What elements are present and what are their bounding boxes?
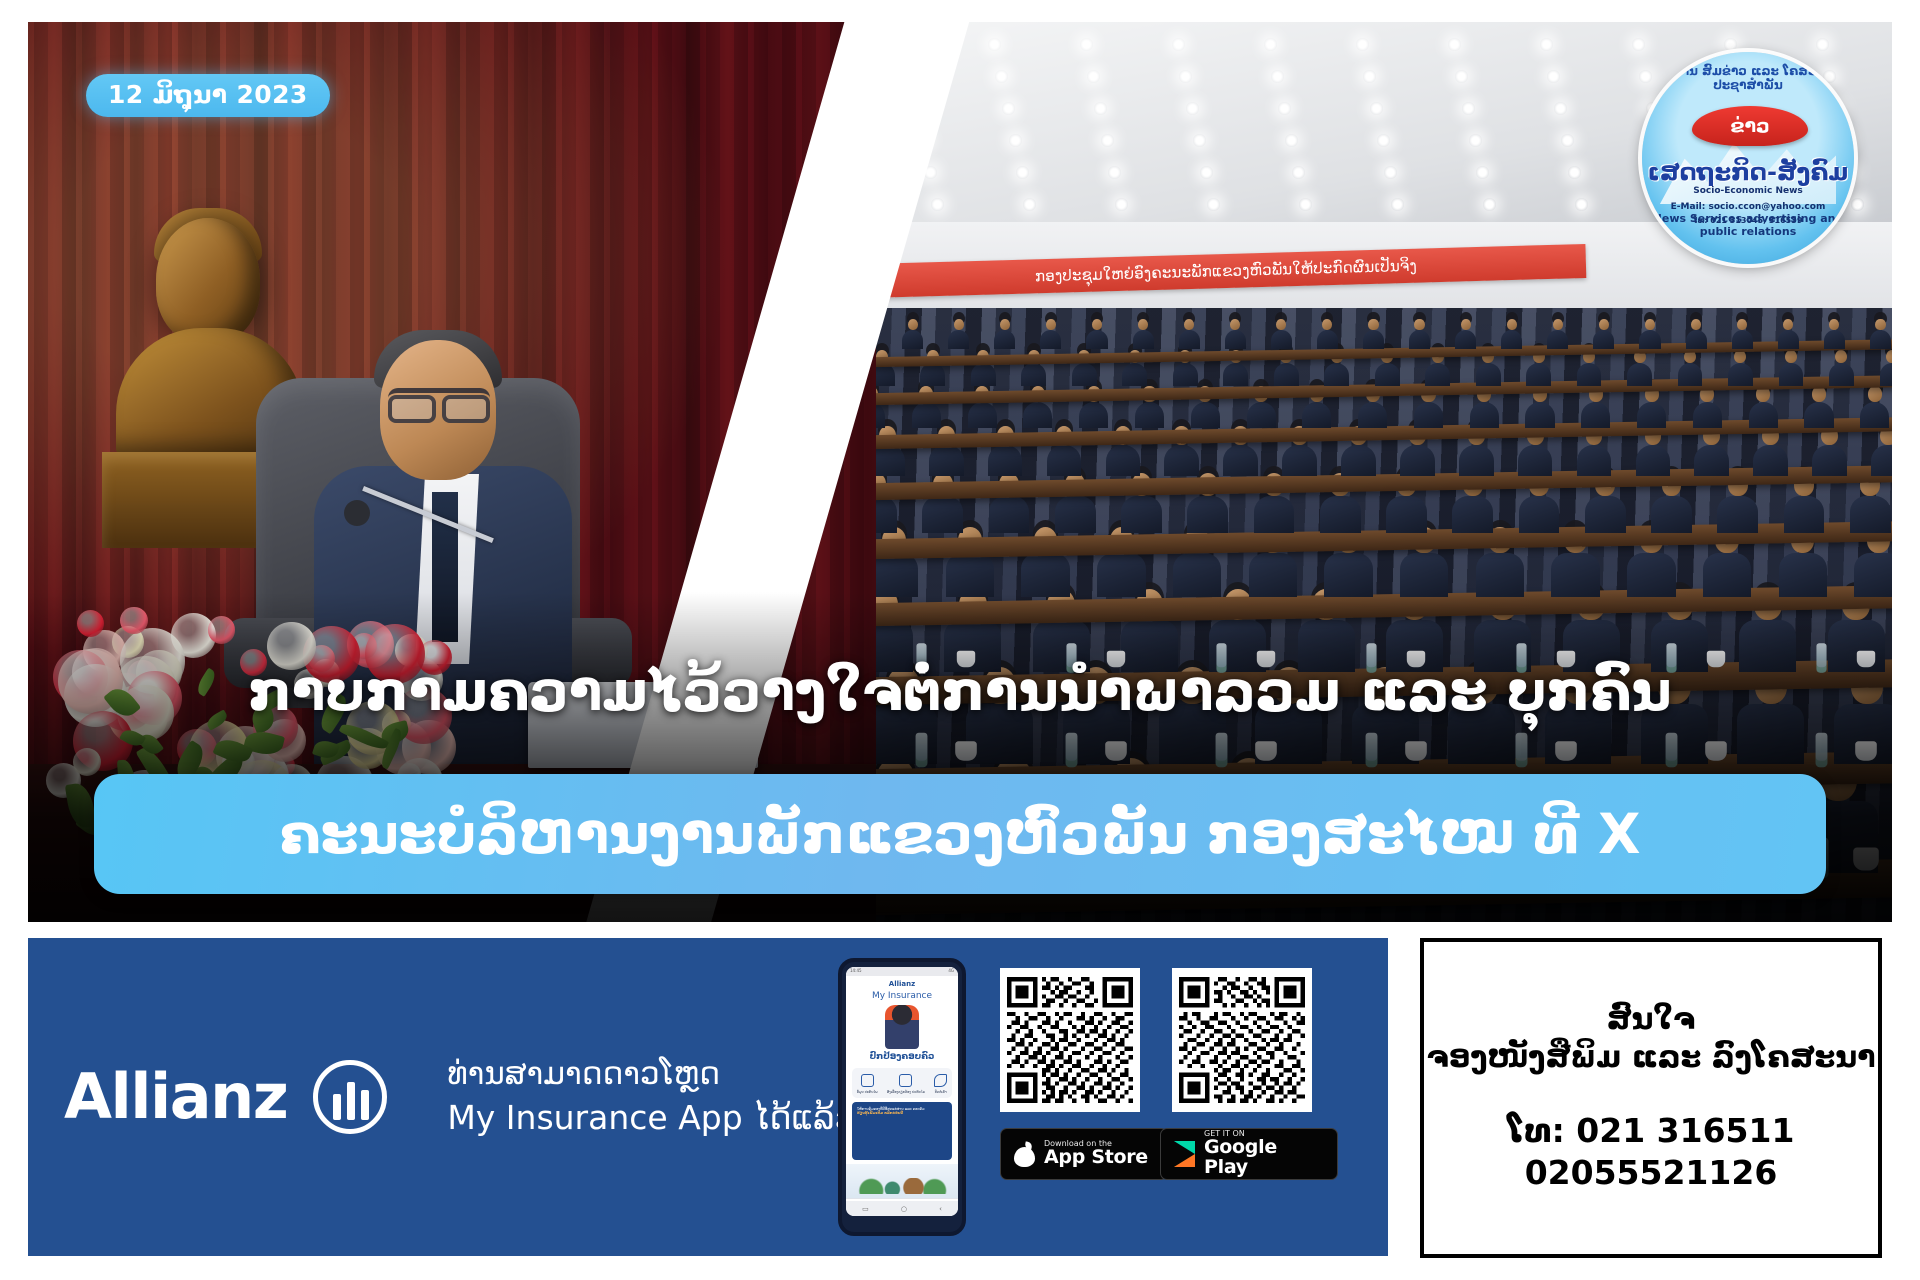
audience-person-torso [1341, 445, 1376, 476]
ceiling-light [1193, 134, 1206, 147]
audience-person-head [1230, 319, 1240, 331]
ceiling-light [1115, 198, 1128, 211]
ceiling-light [1108, 166, 1121, 179]
audience-person-torso [946, 553, 994, 597]
audience-person-torso [1518, 445, 1553, 476]
logo-main-text: ເສດຖະກິດ-ສັງຄົມ [1642, 158, 1854, 186]
audience-person-torso [1317, 330, 1338, 349]
audience-person-torso [1121, 496, 1162, 533]
ceiling-light [1179, 70, 1192, 83]
ceiling-light [1568, 166, 1581, 179]
phone-scene-illustration [846, 1164, 958, 1198]
audience-person-torso [1282, 445, 1317, 476]
ceiling-light [1080, 38, 1093, 51]
audience-person-torso [971, 363, 996, 385]
audience-person-torso [1753, 445, 1788, 476]
ceiling-light [1483, 198, 1496, 211]
audience-person-torso [1627, 553, 1675, 597]
logo-email-text: E-Mail: socio.ccon@yahoo.com [1642, 202, 1854, 212]
audience-person-torso [876, 553, 918, 597]
date-badge: 12 ມິຖຸນາ 2023 [86, 74, 330, 117]
nav-home-icon[interactable]: ○ [901, 1205, 907, 1213]
audience-person-torso [1324, 363, 1349, 385]
audience-person-torso [1386, 496, 1427, 533]
audience-person-torso [1519, 496, 1560, 533]
audience-person-torso [1400, 553, 1448, 597]
audience-person-head [1829, 319, 1839, 331]
google-play-icon [1174, 1141, 1195, 1167]
audience-person-torso [1703, 553, 1751, 597]
phone-system-nav[interactable]: ▭ ○ ‹ [846, 1201, 958, 1216]
microphone-head [344, 500, 370, 526]
audience-person-torso [1778, 330, 1799, 349]
audience-person-torso [1173, 363, 1198, 385]
ceiling-light [1455, 70, 1468, 83]
audience-person-torso [968, 402, 997, 428]
audience-person-torso [1581, 402, 1610, 428]
audience-person-torso [1079, 402, 1108, 428]
audience-person-torso [994, 330, 1015, 349]
audience-person-torso [876, 496, 897, 533]
contact-line2: ຈອງໜັງສືພິມ ແລະ ລົງໂຄສະນາ [1426, 1039, 1875, 1077]
ceiling-light [931, 198, 944, 211]
audience-person-head [1783, 319, 1793, 331]
ceiling-light [1207, 198, 1220, 211]
ceiling-light [988, 38, 1001, 51]
phone-promo-banner[interactable]: ໃຫ້ການຄຸ້ມຄອງທີ່ດີທີ່ສຸດແກ່ທ່ານ ແລະ ຄອບຄ… [852, 1102, 952, 1160]
ceiling-light [1009, 134, 1022, 147]
audience-person-torso [1409, 330, 1430, 349]
audience-person-torso [1072, 363, 1097, 385]
google-play-qr-image [1179, 975, 1305, 1105]
publisher-logo[interactable]: ບໍລິການ ສົມຂ່າວ ແລະ ໂຄສະນາ - ປະຊາສຳພັນ ຂ… [1642, 52, 1854, 264]
ceiling-light [1087, 70, 1100, 83]
audience-person-torso [1191, 402, 1220, 428]
ceiling-light [1264, 38, 1277, 51]
audience-person-torso [1040, 330, 1061, 349]
allianz-brand-block: Allianz ທ່ານສາມາດດາວໂຫຼດ My Insurance Ap… [28, 1054, 914, 1140]
ceiling-light [1476, 166, 1489, 179]
ceiling-light [1292, 166, 1305, 179]
audience-person-torso [1122, 363, 1147, 385]
phone-screen: 14:45 4G Allianz My Insurance ປົກປ້ອງຄອບ… [846, 967, 958, 1216]
phone-app-brand: Allianz [846, 976, 958, 988]
ceiling-light [1200, 166, 1213, 179]
audience-person-torso [1455, 330, 1476, 349]
ceiling-light [1370, 102, 1383, 115]
ceiling-light [1724, 38, 1737, 51]
google-play-button[interactable]: GET IT ON Google Play [1160, 1128, 1338, 1180]
audience-person-torso [1271, 330, 1292, 349]
audience-person-torso [1501, 330, 1522, 349]
audience-person-torso [1247, 402, 1276, 428]
audience-person-torso [1551, 553, 1599, 597]
audience-person-torso [1686, 330, 1707, 349]
audience-person-torso [1023, 402, 1052, 428]
ceiling-light [1469, 134, 1482, 147]
audience-person-torso [1179, 330, 1200, 349]
contact-line1: ສົນໃຈ [1607, 1001, 1695, 1039]
speaker-glasses [388, 388, 490, 408]
ceiling-light [1816, 38, 1829, 51]
phone-illustration [885, 1005, 919, 1049]
audience-person-torso [1636, 445, 1671, 476]
audience-person-torso [1585, 496, 1626, 533]
audience-person-torso [1363, 330, 1384, 349]
phone-tile-policy-label: ຂໍ້ມູນ ປະກັນໄພ [857, 1090, 878, 1094]
audience-person-torso [1097, 553, 1145, 597]
app-store-button[interactable]: Download on the App Store [1000, 1128, 1168, 1180]
google-play-small-label: GET IT ON [1204, 1130, 1324, 1138]
audience-person-head [1092, 319, 1102, 331]
audience-person-torso [1055, 496, 1096, 533]
audience-person-torso [1547, 330, 1568, 349]
qr-icon [899, 1074, 912, 1087]
ceiling-light [1632, 38, 1645, 51]
phone-icon [934, 1074, 947, 1087]
audience-person-torso [1375, 363, 1400, 385]
contact-phone2[interactable]: 02055521126 [1525, 1152, 1778, 1195]
audience-person-torso [1526, 363, 1551, 385]
bust-head [156, 218, 260, 344]
audience-person-torso [1414, 402, 1443, 428]
audience-person-torso [1627, 363, 1652, 385]
ceiling-light [1384, 166, 1397, 179]
audience-person-torso [1223, 445, 1258, 476]
phone-status-time: 14:45 [850, 968, 862, 975]
ceiling-light [1023, 198, 1036, 211]
audience-person-head [1138, 319, 1148, 331]
poster-page: ກອງປະຊຸມໃຫຍ່ອົງຄະນະພັກແຂວງຫົວພັນໃຫ້ປະກົດ… [0, 0, 1920, 1280]
audience-person-head [1691, 319, 1701, 331]
audience-person-torso [1459, 445, 1494, 476]
audience-person-torso [988, 445, 1023, 476]
ceiling-light [1299, 198, 1312, 211]
audience-person-torso [1880, 363, 1892, 385]
ceiling-light [1462, 102, 1475, 115]
phone-tile-policy[interactable]: ຂໍ້ມູນ ປະກັນໄພ [857, 1074, 878, 1094]
audience-person-torso [902, 330, 923, 349]
phone-tile-contact-label: ຕິດຕໍ່ເຮົາ [934, 1090, 947, 1094]
ceiling-light [1448, 38, 1461, 51]
phone-quick-tiles[interactable]: ຂໍ້ມູນ ປະກັນໄພ ສົ່ງເລື່ອງຮຽກຮ້ອງ ປະກັນໄພ… [852, 1068, 952, 1098]
audience-person-torso [1804, 402, 1833, 428]
ceiling-light [1377, 134, 1390, 147]
audience-person-torso [929, 445, 964, 476]
ceiling-light [1356, 38, 1369, 51]
audience-person-torso [1871, 445, 1892, 476]
audience-person-torso [876, 445, 905, 476]
audience-person-torso [1470, 402, 1499, 428]
audience-person-head [1414, 319, 1424, 331]
audience-person-torso [1694, 445, 1729, 476]
audience-person-torso [1320, 496, 1361, 533]
audience-person-torso [1476, 553, 1524, 597]
ceiling-light [1285, 134, 1298, 147]
audience-person-torso [1693, 402, 1722, 428]
audience-person-torso [1779, 553, 1827, 597]
contact-phone1[interactable]: ໂທ: 021 316511 [1508, 1110, 1795, 1153]
ceiling-light [1186, 102, 1199, 115]
audience-person-torso [1133, 330, 1154, 349]
audience-person-torso [1173, 553, 1221, 597]
audience-person-head [1785, 350, 1797, 364]
audience-person-head [1886, 350, 1892, 364]
nav-recents-icon[interactable]: ▭ [862, 1205, 869, 1213]
google-play-qr[interactable] [1172, 968, 1312, 1112]
ceiling-light [1101, 134, 1114, 147]
audience-person-head [1737, 319, 1747, 331]
audience-person-torso [1106, 445, 1141, 476]
audience-person-torso [1452, 496, 1493, 533]
audience-person-head [1835, 350, 1847, 364]
hero-section: ກອງປະຊຸມໃຫຍ່ອົງຄະນະພັກແຂວງຫົວພັນໃຫ້ປະກົດ… [28, 22, 1892, 922]
audience-person-torso [1324, 553, 1372, 597]
audience-person-torso [1732, 330, 1753, 349]
ceiling-light [995, 70, 1008, 83]
audience-person-torso [1254, 496, 1295, 533]
audience-person-torso [1651, 496, 1692, 533]
audience-person-torso [922, 496, 963, 533]
audience-person-torso [1164, 445, 1199, 476]
audience-person-torso [1870, 330, 1891, 349]
audience-person-torso [912, 402, 941, 428]
phone-tile-contact[interactable]: ຕິດຕໍ່ເຮົາ [934, 1074, 947, 1094]
audience-person-torso [1728, 363, 1753, 385]
audience-person-head [1875, 319, 1885, 331]
audience-person-torso [1223, 363, 1248, 385]
audience-person-torso [1086, 330, 1107, 349]
audience-person-head [1645, 319, 1655, 331]
phone-caption: ປົກປ້ອງຄອບຄົວ [846, 1049, 958, 1065]
audience-person-head [1322, 319, 1332, 331]
audience-person-head [1046, 319, 1056, 331]
audience-person-torso [1476, 363, 1501, 385]
audience-person-torso [1225, 330, 1246, 349]
audience-person-head [1184, 319, 1194, 331]
audience-person-torso [1639, 330, 1660, 349]
audience-person-torso [1358, 402, 1387, 428]
audience-person-torso [1829, 363, 1854, 385]
ceiling-light [1278, 102, 1291, 115]
card-icon [861, 1074, 874, 1087]
logo-ring-bottom-text: News Services advertising and public rel… [1642, 212, 1854, 238]
app-store-big-label: App Store [1044, 1148, 1148, 1168]
apple-icon [1014, 1142, 1035, 1167]
allianz-wordmark: Allianz [64, 1060, 287, 1133]
audience-person-torso [1678, 363, 1703, 385]
ceiling-light [1271, 70, 1284, 83]
ceiling-light [1561, 134, 1574, 147]
app-store-small-label: Download on the [1044, 1140, 1148, 1148]
headline-line1: ກາບກາມຄວາມໄວ້ວາງໃຈຕໍ່ການນຳພາລວມ ແລະ ບຸກຄ… [28, 662, 1892, 720]
audience-person-torso [1400, 445, 1435, 476]
audience-person-head [1553, 319, 1563, 331]
ceiling-light [1391, 198, 1404, 211]
audience-person-torso [1850, 496, 1891, 533]
logo-sub-text: Socio-Economic News [1642, 186, 1854, 196]
audience-person-torso [876, 402, 885, 428]
audience-person-torso [920, 363, 945, 385]
audience-person-head [1461, 319, 1471, 331]
ceiling-light [1575, 198, 1588, 211]
ceiling-light [1016, 166, 1029, 179]
ceiling-light [1540, 38, 1553, 51]
phone-app-title: My Insurance [846, 988, 958, 1003]
audience-person-torso [1425, 363, 1450, 385]
audience-person-torso [1717, 496, 1758, 533]
audience-person-torso [989, 496, 1030, 533]
audience-person-torso [1812, 445, 1847, 476]
ceiling-light [1094, 102, 1107, 115]
phone-tile-claim[interactable]: ສົ່ງເລື່ອງຮຽກຮ້ອງ ປະກັນໄພ [887, 1074, 925, 1094]
headline-line2-bar: ຄະນະບໍລິຫານງານພັກແຂວງຫົວພັນ ກອງສະໄໝ ທີ X [94, 774, 1826, 894]
audience-person-torso [1302, 402, 1331, 428]
audience-person-torso [1784, 496, 1825, 533]
audience-person-head [1599, 319, 1609, 331]
phone-tile-claim-label: ສົ່ງເລື່ອງຮຽກຮ້ອງ ປະກັນໄພ [887, 1090, 925, 1094]
ceiling-light [1002, 102, 1015, 115]
audience-person-torso [1749, 402, 1778, 428]
phone-status-network: 4G [948, 968, 954, 975]
audience-person-torso [1854, 553, 1892, 597]
audience-person-torso [1047, 445, 1082, 476]
logo-red-badge: ຂ່າວ [1692, 106, 1808, 146]
audience-person-head [1507, 319, 1517, 331]
phone-status-bar: 14:45 4G [846, 967, 958, 976]
google-play-big-label: Google Play [1204, 1138, 1324, 1178]
audience-person-torso [1637, 402, 1666, 428]
audience-person-torso [1249, 553, 1297, 597]
audience-person-torso [1021, 363, 1046, 385]
audience-person-torso [1860, 402, 1889, 428]
contact-box: ສົນໃຈ ຈອງໜັງສືພິມ ແລະ ລົງໂຄສະນາ ໂທ: 021 … [1420, 938, 1882, 1258]
logo-ring-top-text: ບໍລິການ ສົມຂ່າວ ແລະ ໂຄສະນາ - ປະຊາສຳພັນ [1642, 64, 1854, 92]
audience-person-torso [1525, 402, 1554, 428]
audience-person-torso [948, 330, 969, 349]
audience-person-head [1000, 319, 1010, 331]
audience-person-head [1868, 386, 1882, 402]
app-store-qr-image [1007, 975, 1133, 1105]
audience-person-head [1368, 319, 1378, 331]
nav-back-icon[interactable]: ‹ [939, 1205, 942, 1213]
audience-person-head [908, 319, 918, 331]
audience-person-torso [1577, 445, 1612, 476]
phone-promo-link[interactable]: ຮຽນຮູ້ເພີ່ມເຕີມ ຄລິກບ່ອນນີ້ [857, 1111, 903, 1115]
audience-person-torso [1135, 402, 1164, 428]
audience-person-torso [1779, 363, 1804, 385]
audience-person-torso [1021, 553, 1069, 597]
audience-person-torso [1274, 363, 1299, 385]
audience-person-head [1276, 319, 1286, 331]
ceiling-light [1363, 70, 1376, 83]
audience-person-torso [1593, 330, 1614, 349]
audience-person-head [954, 319, 964, 331]
ceiling-light [1547, 70, 1560, 83]
phone-mockup: 14:45 4G Allianz My Insurance ປົກປ້ອງຄອບ… [838, 958, 966, 1236]
ceiling-light [1172, 38, 1185, 51]
audience-person-torso [1824, 330, 1845, 349]
audience-person-torso [1187, 496, 1228, 533]
app-store-qr[interactable] [1000, 968, 1140, 1112]
ceiling-light [1554, 102, 1567, 115]
allianz-bars-icon [313, 1060, 387, 1134]
audience-person-torso [1577, 363, 1602, 385]
